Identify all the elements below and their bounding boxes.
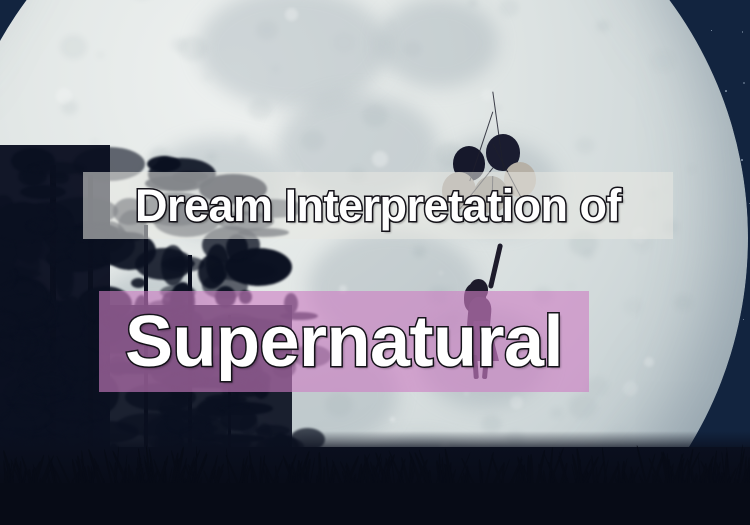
- girl-arm: [488, 243, 503, 289]
- headline-line-2: Supernatural: [125, 306, 563, 378]
- headline-banner-bottom: Supernatural: [99, 291, 589, 392]
- headline-line-1: Dream Interpretation of: [135, 183, 621, 228]
- headline-banner-top: Dream Interpretation of: [83, 172, 673, 239]
- ground: [0, 447, 750, 525]
- banner-image: Dream Interpretation of Supernatural: [0, 0, 750, 525]
